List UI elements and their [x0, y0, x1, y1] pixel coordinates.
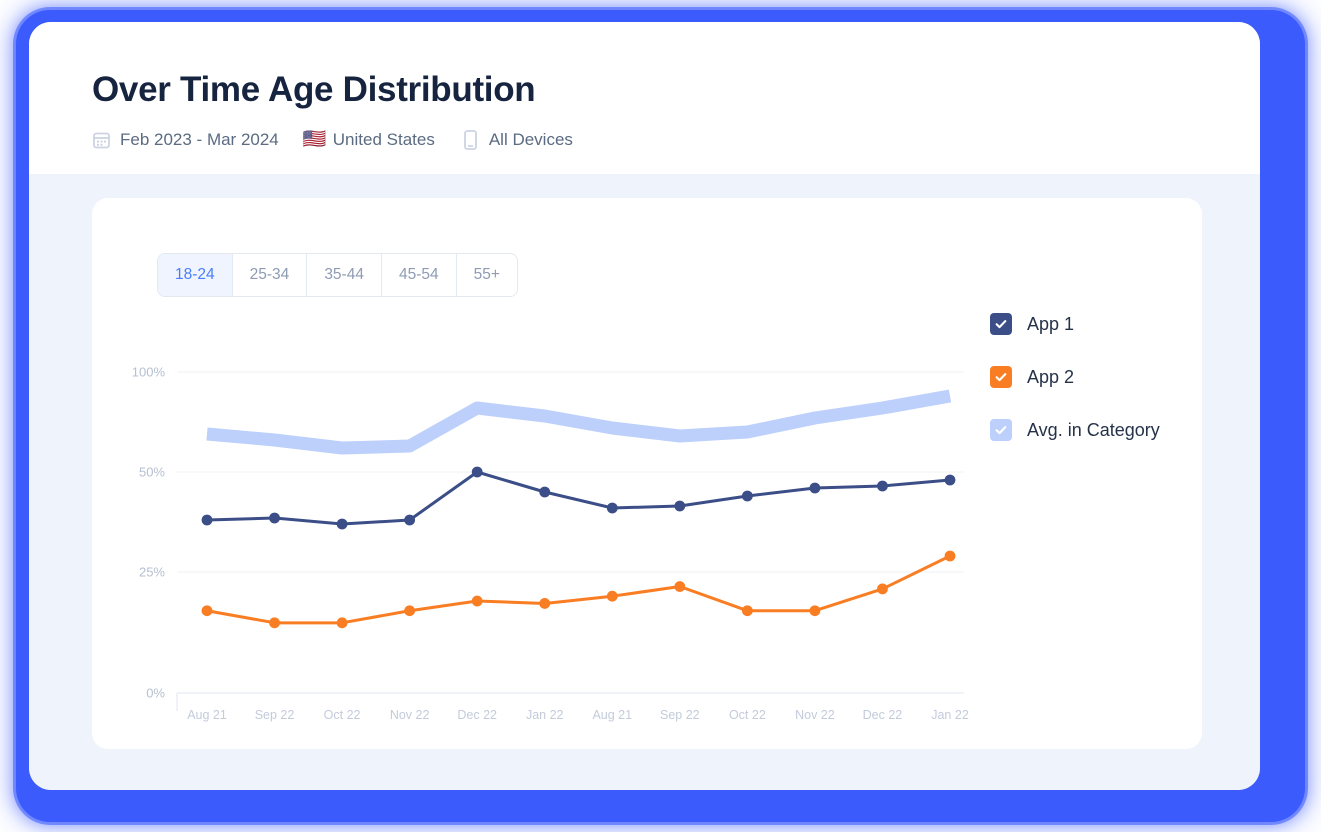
legend-item-label: Avg. in Category	[1027, 420, 1160, 441]
meta-date-range: Feb 2023 - Mar 2024	[92, 129, 279, 150]
data-point	[674, 501, 685, 512]
data-point	[472, 467, 483, 478]
data-point	[472, 596, 483, 607]
data-point	[607, 503, 618, 514]
legend-checkbox-icon[interactable]	[990, 313, 1012, 335]
meta-country-label: United States	[333, 130, 435, 150]
series-avg-in-category	[207, 396, 950, 448]
page-title: Over Time Age Distribution	[92, 70, 535, 110]
app-card: Over Time Age Distribution Feb 2023 - Ma…	[29, 22, 1260, 790]
legend-item-2[interactable]: App 2	[990, 366, 1160, 388]
data-point	[404, 515, 415, 526]
data-point	[539, 598, 550, 609]
age-tab-18-24[interactable]: 18-24	[158, 254, 233, 296]
x-axis-tick-label: Jan 22	[526, 708, 564, 722]
data-point	[810, 605, 821, 616]
series-app-1	[207, 472, 950, 524]
series-app-2	[207, 556, 950, 623]
header: Over Time Age Distribution Feb 2023 - Ma…	[29, 22, 1260, 174]
data-point	[404, 605, 415, 616]
data-point	[945, 551, 956, 562]
meta-devices-label: All Devices	[489, 130, 573, 150]
data-point	[607, 591, 618, 602]
data-point	[742, 491, 753, 502]
mobile-device-icon	[461, 129, 480, 150]
y-axis-tick-label: 25%	[92, 565, 165, 580]
legend-checkbox-icon[interactable]	[990, 419, 1012, 441]
calendar-icon	[92, 129, 111, 150]
x-axis-tick-label: Aug 21	[592, 708, 632, 722]
chart-panel: 18-2425-3435-4445-5455+ 100%50%25%0%Aug …	[92, 198, 1202, 749]
meta-date-range-label: Feb 2023 - Mar 2024	[120, 130, 279, 150]
x-axis-tick-label: Oct 22	[324, 708, 361, 722]
data-point	[810, 483, 821, 494]
x-axis-tick-label: Nov 22	[390, 708, 430, 722]
meta-country: 🇺🇸 United States	[305, 129, 435, 150]
data-point	[945, 475, 956, 486]
x-axis-tick-label: Jan 22	[931, 708, 969, 722]
data-point	[877, 481, 888, 492]
x-axis-tick-label: Nov 22	[795, 708, 835, 722]
data-point	[742, 605, 753, 616]
x-axis-tick-label: Sep 22	[255, 708, 295, 722]
data-point	[202, 605, 213, 616]
legend-item-label: App 2	[1027, 367, 1074, 388]
age-tab-55plus[interactable]: 55+	[457, 254, 517, 296]
legend-item-1[interactable]: App 1	[990, 313, 1160, 335]
data-point	[269, 617, 280, 628]
y-axis-tick-label: 50%	[92, 465, 165, 480]
x-axis-tick-label: Sep 22	[660, 708, 700, 722]
data-point	[337, 617, 348, 628]
x-axis-tick-label: Aug 21	[187, 708, 227, 722]
y-axis-tick-label: 0%	[92, 686, 165, 701]
x-axis-tick-label: Oct 22	[729, 708, 766, 722]
data-point	[202, 515, 213, 526]
legend-item-3[interactable]: Avg. in Category	[990, 419, 1160, 441]
meta-devices: All Devices	[461, 129, 573, 150]
x-axis-tick-label: Dec 22	[457, 708, 497, 722]
y-axis-tick-label: 100%	[92, 365, 165, 380]
legend-checkbox-icon[interactable]	[990, 366, 1012, 388]
flag-us-icon: 🇺🇸	[305, 129, 324, 150]
age-group-tabs[interactable]: 18-2425-3435-4445-5455+	[158, 254, 517, 296]
legend-item-label: App 1	[1027, 314, 1074, 335]
age-tab-45-54[interactable]: 45-54	[382, 254, 457, 296]
meta-row: Feb 2023 - Mar 2024 🇺🇸 United States All…	[92, 129, 573, 150]
age-tab-35-44[interactable]: 35-44	[307, 254, 382, 296]
data-point	[269, 513, 280, 524]
data-point	[674, 581, 685, 592]
age-tab-25-34[interactable]: 25-34	[233, 254, 308, 296]
x-axis-tick-label: Dec 22	[863, 708, 903, 722]
data-point	[877, 584, 888, 595]
data-point	[539, 487, 550, 498]
data-point	[337, 519, 348, 530]
chart-legend[interactable]: App 1App 2Avg. in Category	[990, 313, 1160, 441]
